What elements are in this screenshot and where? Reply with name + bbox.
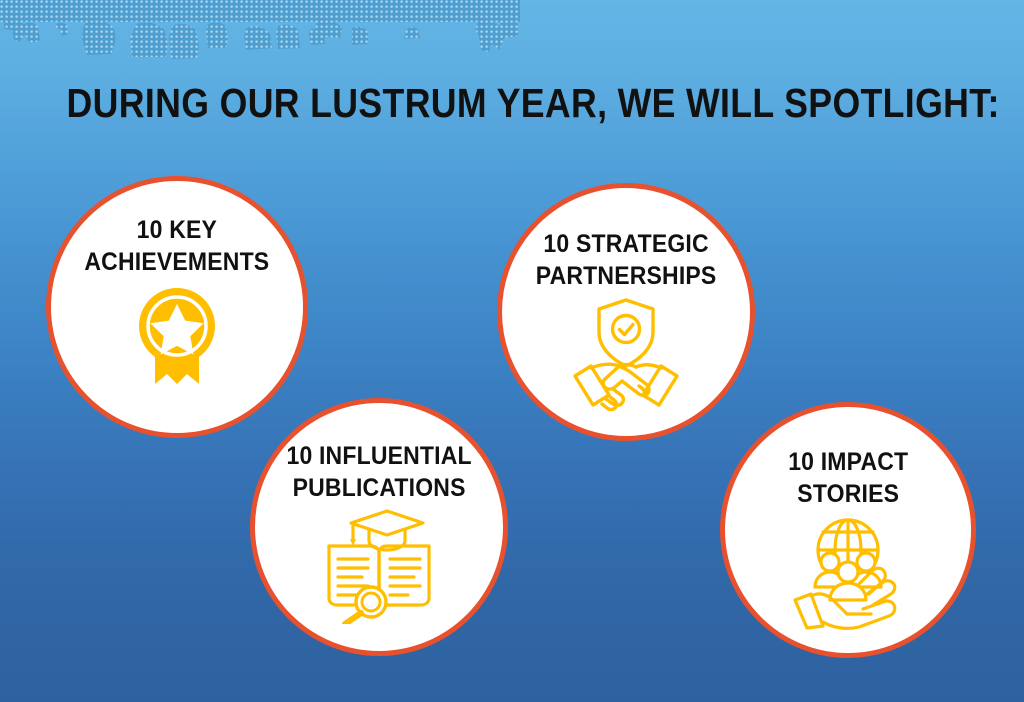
bubble-impact-line2: STORIES: [797, 480, 899, 508]
halftone-dot-band: [0, 0, 520, 60]
bubble-achievements-label: 10 KEY ACHIEVEMENTS: [75, 214, 279, 278]
bubble-partnerships[interactable]: 10 STRATEGIC PARTNERSHIPS: [497, 183, 755, 441]
handshake-shield-check-icon: [563, 294, 689, 414]
open-book-graduation-cap-magnifier-icon: [319, 506, 439, 624]
award-ribbon-icon: [123, 282, 231, 388]
hand-globe-people-icon: [787, 514, 909, 630]
bubble-publications-line2: PUBLICATIONS: [292, 474, 465, 502]
bubble-achievements-line1: 10 KEY: [137, 216, 217, 244]
bubble-publications-label: 10 INFLUENTIAL PUBLICATIONS: [279, 440, 480, 504]
lustrum-spotlight-poster: DURING OUR LUSTRUM YEAR, WE WILL SPOTLIG…: [0, 0, 1024, 702]
bubble-achievements-line2: ACHIEVEMENTS: [85, 248, 270, 276]
page-title: DURING OUR LUSTRUM YEAR, WE WILL SPOTLIG…: [67, 82, 958, 125]
bubble-partnerships-line1: 10 STRATEGIC: [543, 230, 708, 258]
bubble-partnerships-label: 10 STRATEGIC PARTNERSHIPS: [526, 228, 727, 292]
bubble-publications-line1: 10 INFLUENTIAL: [286, 442, 471, 470]
bubble-impact-line1: 10 IMPACT: [788, 448, 908, 476]
bubble-impact-label: 10 IMPACT STORIES: [748, 446, 947, 510]
bubble-publications[interactable]: 10 INFLUENTIAL PUBLICATIONS: [250, 398, 508, 656]
bubble-achievements[interactable]: 10 KEY ACHIEVEMENTS: [46, 176, 308, 438]
bubble-partnerships-line2: PARTNERSHIPS: [536, 262, 717, 290]
bubble-impact[interactable]: 10 IMPACT STORIES: [720, 402, 976, 658]
